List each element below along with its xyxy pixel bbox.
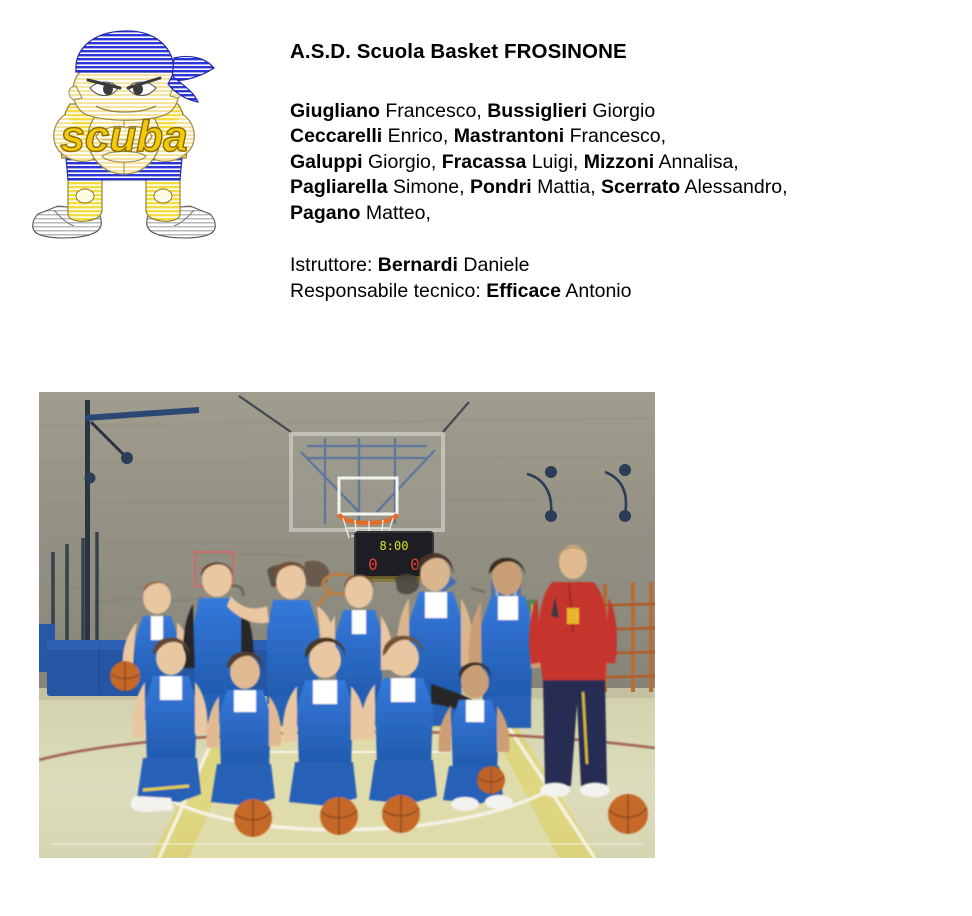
player-surname: Ceccarelli (290, 125, 382, 147)
player-given-name: Giorgio, (363, 151, 442, 173)
roster-line: Pagano Matteo, (290, 201, 950, 227)
player-surname: Mizzoni (584, 151, 654, 173)
staff-line: Istruttore: Bernardi Daniele (290, 253, 950, 279)
player-surname: Galuppi (290, 151, 363, 173)
staff-surname: Efficace (486, 280, 561, 302)
player-surname: Scerrato (601, 176, 680, 198)
player-roster: Giugliano Francesco, Bussiglieri Giorgio… (290, 99, 950, 227)
player-given-name: Matteo, (360, 202, 430, 224)
player-given-name: Alessandro, (680, 176, 787, 198)
player-given-name: Giorgio (587, 100, 655, 122)
page-title: A.S.D. Scuola Basket FROSINONE (290, 40, 950, 65)
gym-photograph: 8:00 0 0 (39, 392, 655, 858)
player-surname: Giugliano (290, 100, 380, 122)
club-info-block: A.S.D. Scuola Basket FROSINONE Giugliano… (290, 40, 950, 304)
player-surname: Mastrantoni (454, 125, 565, 147)
mascot-shoes-icon (33, 206, 216, 238)
logo-wordmark: scuba (60, 112, 187, 161)
staff-surname: Bernardi (378, 254, 458, 276)
staff-role: Responsabile tecnico: (290, 280, 486, 302)
club-logo: scuba (24, 18, 224, 258)
player-surname: Bussiglieri (487, 100, 587, 122)
staff-line: Responsabile tecnico: Efficace Antonio (290, 279, 950, 305)
player-surname: Fracassa (442, 151, 527, 173)
player-given-name: Simone, (388, 176, 470, 198)
roster-line: Giugliano Francesco, Bussiglieri Giorgio (290, 99, 950, 125)
staff-given-name: Antonio (561, 280, 631, 302)
player-given-name: Mattia, (532, 176, 601, 198)
roster-line: Galuppi Giorgio, Fracassa Luigi, Mizzoni… (290, 150, 950, 176)
player-surname: Pondri (470, 176, 532, 198)
player-given-name: Francesco, (380, 100, 487, 122)
roster-line: Pagliarella Simone, Pondri Mattia, Scerr… (290, 175, 950, 201)
staff-role: Istruttore: (290, 254, 378, 276)
mascot-bandana-icon (76, 31, 174, 72)
player-given-name: Enrico, (382, 125, 454, 147)
player-given-name: Luigi, (526, 151, 583, 173)
team-group-photo: 8:00 0 0 (39, 392, 655, 858)
scuba-mascot-icon: scuba (24, 18, 224, 258)
player-given-name: Annalisa, (654, 151, 739, 173)
player-given-name: Francesco, (564, 125, 666, 147)
staff-list: Istruttore: Bernardi DanieleResponsabile… (290, 253, 950, 304)
player-surname: Pagliarella (290, 176, 388, 198)
player-surname: Pagano (290, 202, 360, 224)
roster-line: Ceccarelli Enrico, Mastrantoni Francesco… (290, 124, 950, 150)
staff-given-name: Daniele (458, 254, 530, 276)
